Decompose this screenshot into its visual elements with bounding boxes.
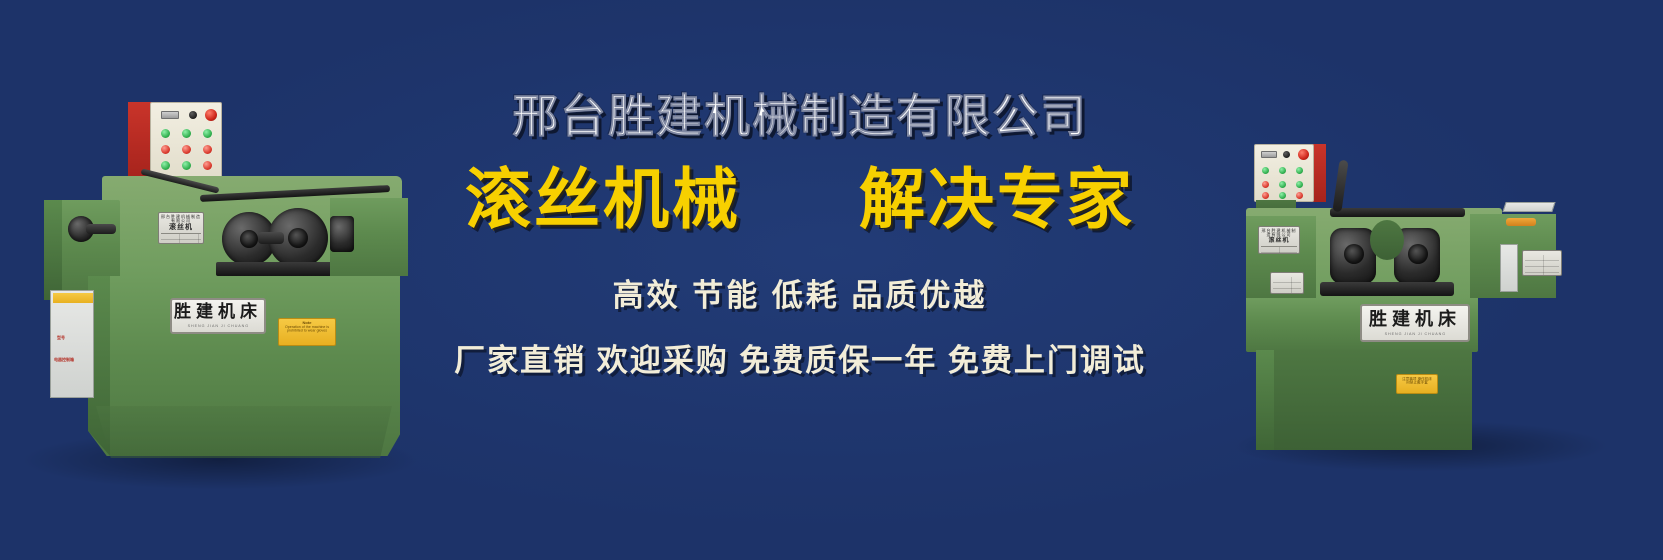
right-feed-slide — [1500, 244, 1518, 292]
right-connector-block — [1506, 218, 1536, 226]
left-nameplate-pinyin: SHENG JIAN JI CHUANG — [187, 324, 248, 328]
right-panel-button[interactable] — [1279, 192, 1286, 199]
right-panel-button[interactable] — [1296, 181, 1303, 188]
left-panel-button[interactable] — [182, 145, 191, 154]
right-panel-button[interactable] — [1262, 181, 1269, 188]
left-electrical-cabinet[interactable]: 型号 电器控制箱 — [50, 290, 94, 398]
subtitle-line-2: 厂家直销 欢迎采购 免费质保一年 免费上门调试 — [400, 335, 1200, 380]
right-roller-b-hub — [1408, 244, 1428, 264]
right-panel-selector-knob[interactable] — [1283, 151, 1290, 158]
left-panel-button[interactable] — [161, 145, 170, 154]
company-name: 邢台胜建机械制造有限公司 — [400, 92, 1200, 140]
right-panel-button[interactable] — [1262, 192, 1269, 199]
right-base-body — [1256, 350, 1472, 450]
left-nameplate: 胜建机床 SHENG JIAN JI CHUANG — [170, 298, 266, 334]
left-body-skirt — [96, 406, 392, 458]
right-nameplate-pinyin: SHENG JIAN JI CHUANG — [1384, 332, 1445, 336]
left-cabinet-label-2: 电器控制箱 — [54, 357, 74, 363]
right-control-panel — [1254, 144, 1314, 202]
right-aux-plate — [1270, 272, 1304, 294]
right-spec-plate-rows — [1261, 246, 1297, 254]
left-warning-plate: Note Operation of the machine is prohibi… — [278, 318, 336, 346]
right-top-tray — [1502, 202, 1555, 212]
left-spec-plate-company: 邢台胜建机械制造有限公司 — [161, 215, 201, 223]
right-roller-bridge — [1370, 220, 1404, 260]
subtitle-line-1: 高效 节能 低耗 品质优越 — [400, 270, 1200, 315]
right-top-rail — [1330, 208, 1465, 217]
right-panel-button[interactable] — [1262, 167, 1269, 174]
right-spec-plate-model: 滚丝机 — [1261, 238, 1297, 244]
left-panel-button[interactable] — [203, 161, 212, 170]
headline-left: 滚丝机械 — [465, 166, 741, 232]
left-control-panel — [150, 102, 222, 180]
left-cabinet-strip — [53, 293, 93, 303]
right-spec-plate-company: 邢台胜建机械制造有限公司 — [1261, 229, 1297, 237]
right-base-left-face — [1256, 350, 1274, 450]
right-side-plate — [1522, 250, 1562, 276]
promotional-banner: 邢台胜建机械制造有限公司 滚丝机 型号 电器控制箱 胜建机床 SHENG JIA… — [0, 0, 1663, 560]
left-spindle-shaft — [86, 224, 116, 234]
right-panel-button[interactable] — [1279, 167, 1286, 174]
left-spec-plate: 邢台胜建机械制造有限公司 滚丝机 — [158, 212, 204, 244]
left-panel-button[interactable] — [203, 145, 212, 154]
right-nameplate-text: 胜建机床 — [1369, 311, 1461, 329]
left-spec-plate-model: 滚丝机 — [161, 224, 201, 231]
left-panel-emergency-stop[interactable] — [205, 109, 217, 121]
headline-row: 滚丝机械 解决专家 — [400, 166, 1200, 232]
left-panel-button[interactable] — [161, 161, 170, 170]
left-panel-button[interactable] — [161, 129, 170, 138]
left-roller-shaft — [258, 232, 284, 244]
right-warning-body: 注意事项 操作机床时禁止戴手套 — [1402, 377, 1433, 385]
right-coolant-hose — [1332, 160, 1348, 213]
right-warning-plate: 注意事项 操作机床时禁止戴手套 — [1396, 374, 1438, 394]
left-panel-button[interactable] — [182, 161, 191, 170]
right-spec-plate: 邢台胜建机械制造有限公司 滚丝机 — [1258, 226, 1300, 254]
left-spec-plate-rows — [161, 233, 201, 244]
left-cabinet-label-1: 型号 — [57, 335, 65, 341]
left-nameplate-text: 胜建机床 — [174, 304, 262, 321]
headline-right: 解决专家 — [859, 166, 1135, 232]
left-roller-b-hub — [288, 228, 308, 248]
right-panel-emergency-stop[interactable] — [1298, 149, 1309, 160]
left-panel-button[interactable] — [203, 129, 212, 138]
left-panel-button[interactable] — [182, 129, 191, 138]
right-panel-button[interactable] — [1296, 167, 1303, 174]
machine-right: 邢台胜建机械制造有限公司 滚丝机 胜建机床 SHENG JIAN JI CHUA… — [1170, 110, 1570, 450]
right-roller-a-hub — [1344, 244, 1364, 264]
left-housing-face — [44, 200, 62, 300]
left-roller-a-hub — [240, 230, 258, 248]
right-side-plate-rows — [1525, 255, 1559, 275]
right-nameplate: 胜建机床 SHENG JIAN JI CHUANG — [1360, 304, 1470, 342]
banner-text-block: 邢台胜建机械制造有限公司 滚丝机械 解决专家 高效 节能 低耗 品质优越 厂家直… — [400, 92, 1200, 380]
right-aux-plate-rows — [1273, 277, 1301, 293]
left-tail-spindle — [330, 216, 354, 252]
right-panel-button[interactable] — [1296, 192, 1303, 199]
right-panel-button[interactable] — [1279, 181, 1286, 188]
machine-left: 邢台胜建机械制造有限公司 滚丝机 型号 电器控制箱 胜建机床 SHENG JIA… — [30, 90, 410, 470]
left-roller-base — [216, 262, 342, 276]
left-panel-selector-knob[interactable] — [189, 111, 197, 119]
right-roller-base — [1320, 282, 1454, 296]
left-panel-display — [161, 111, 179, 119]
left-warning-body: Operation of the machine is prohibited t… — [285, 326, 330, 334]
right-panel-display — [1261, 151, 1277, 158]
